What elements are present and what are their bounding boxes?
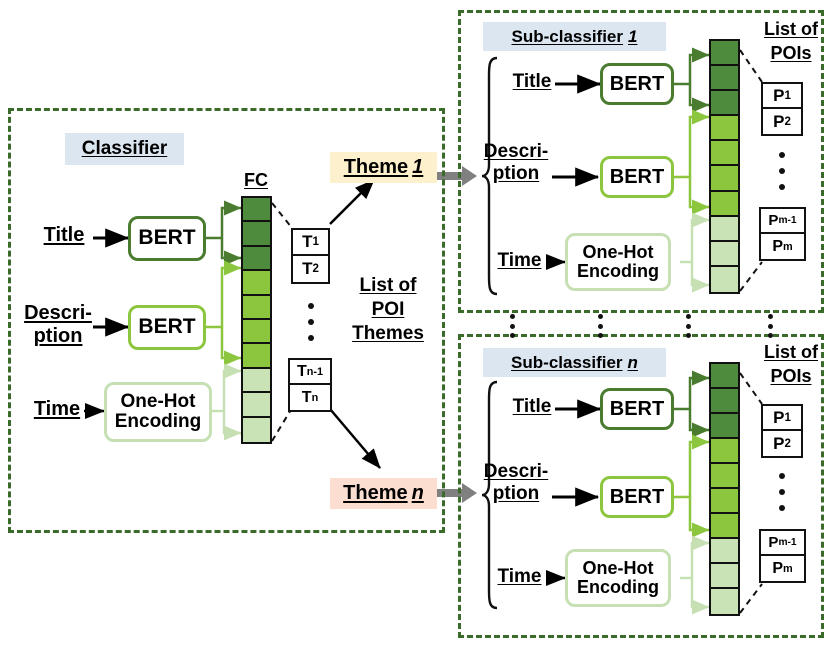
subn-fc-cell bbox=[711, 439, 738, 464]
sub1-onehot-line2: Encoding bbox=[577, 262, 659, 281]
classifier-fc-cell bbox=[243, 247, 270, 271]
poi-base: P bbox=[772, 560, 783, 578]
sub1-bert-title-label: BERT bbox=[610, 74, 664, 95]
subn-description-line1: Descri- bbox=[476, 462, 556, 482]
token-row: T1 bbox=[293, 230, 328, 256]
sub1-poi-ellipsis bbox=[779, 152, 785, 190]
classifier-theme-token-stack-bottom: Tn-1 Tn bbox=[288, 358, 332, 412]
poi-base: P bbox=[773, 408, 784, 428]
classifier-header: Classifier bbox=[65, 133, 184, 165]
subn-fc-cell bbox=[711, 464, 738, 489]
subclassifier-n-header-label: Sub-classifier bbox=[511, 353, 623, 373]
sub1-bert-title-box: BERT bbox=[600, 63, 674, 105]
poi-row: Pm-1 bbox=[761, 209, 804, 234]
subn-fc-cell bbox=[711, 389, 738, 414]
poi-sub: 2 bbox=[784, 116, 790, 128]
sub1-input-label-time: Time bbox=[492, 251, 547, 271]
sub1-description-line2: ption bbox=[476, 164, 556, 184]
interpanel-ellipsis-1 bbox=[510, 314, 515, 338]
subn-fc-cell bbox=[711, 489, 738, 514]
classifier-fc-cell bbox=[243, 296, 270, 320]
theme-chip-1[interactable]: Theme1 bbox=[330, 152, 437, 183]
sub1-input-label-title: Title bbox=[503, 72, 561, 92]
poi-row: P1 bbox=[763, 406, 801, 431]
sub1-fc-cell bbox=[711, 66, 738, 91]
sub1-onehot-line1: One-Hot bbox=[583, 243, 654, 262]
sub1-fc-cell bbox=[711, 116, 738, 141]
subn-input-label-time: Time bbox=[492, 567, 547, 587]
classifier-bert-title-label: BERT bbox=[138, 227, 195, 249]
classifier-title-text: Title bbox=[44, 224, 85, 246]
subn-onehot-line1: One-Hot bbox=[583, 559, 654, 578]
classifier-fc-label: FC bbox=[239, 171, 273, 190]
subn-poi-line1: List of bbox=[753, 343, 829, 362]
classifier-fc-vector bbox=[241, 196, 272, 444]
classifier-fc-cell bbox=[243, 271, 270, 295]
theme-chip-1-index: 1 bbox=[408, 156, 423, 179]
subn-input-label-title: Title bbox=[503, 397, 561, 417]
classifier-description-line2: ption bbox=[18, 326, 98, 347]
classifier-input-label-time: Time bbox=[28, 399, 86, 420]
subn-fc-cell bbox=[711, 589, 738, 614]
interpanel-ellipsis-3 bbox=[686, 314, 691, 338]
poi-row: Pm bbox=[761, 234, 804, 259]
poi-sub: 1 bbox=[784, 90, 790, 102]
classifier-onehot-line1: One-Hot bbox=[121, 392, 196, 412]
classifier-fc-cell bbox=[243, 222, 270, 246]
subn-poi-ellipsis bbox=[779, 473, 785, 511]
classifier-fc-label-text: FC bbox=[244, 170, 268, 190]
classifier-poi-themes-caption: List of POI Themes bbox=[342, 276, 434, 344]
subn-onehot-line2: Encoding bbox=[577, 578, 659, 597]
token-base: T bbox=[302, 232, 312, 252]
classifier-fc-cell bbox=[243, 344, 270, 368]
sub1-fc-cell bbox=[711, 242, 738, 267]
subn-bert-title-box: BERT bbox=[600, 388, 674, 430]
poi-base: P bbox=[772, 238, 783, 256]
classifier-bert-title-box: BERT bbox=[128, 216, 206, 261]
subclassifier-1-header: Sub-classifier 1 bbox=[483, 22, 666, 51]
token-base: T bbox=[302, 389, 312, 407]
classifier-time-text: Time bbox=[34, 398, 80, 420]
subn-bert-description-label: BERT bbox=[610, 487, 664, 508]
subn-onehot-box: One-Hot Encoding bbox=[565, 549, 671, 607]
sub1-fc-cell bbox=[711, 217, 738, 242]
classifier-theme-token-stack-top: T1 T2 bbox=[291, 228, 330, 284]
subn-bert-title-label: BERT bbox=[610, 399, 664, 420]
classifier-fc-cell bbox=[243, 320, 270, 344]
sub1-bert-description-label: BERT bbox=[610, 167, 664, 188]
sub1-description-line1: Descri- bbox=[476, 142, 556, 162]
poi-sub: m-1 bbox=[778, 537, 796, 548]
subn-fc-cell bbox=[711, 364, 738, 389]
subn-fc-cell bbox=[711, 414, 738, 439]
token-base: T bbox=[302, 259, 312, 279]
classifier-input-label-title: Title bbox=[34, 225, 94, 246]
sub1-poi-stack-top: P1 P2 bbox=[761, 82, 803, 136]
sub1-fc-cell bbox=[711, 41, 738, 66]
poi-base: P bbox=[773, 434, 784, 454]
poi-sub: 2 bbox=[784, 438, 790, 450]
subn-poi-line2: POIs bbox=[753, 367, 829, 386]
poi-sub: m-1 bbox=[778, 215, 796, 226]
classifier-bert-description-box: BERT bbox=[128, 305, 206, 350]
token-sub: 1 bbox=[312, 236, 318, 248]
sub1-input-label-description: Descri- ption bbox=[476, 142, 556, 184]
subclassifier-n-header: Sub-classifier n bbox=[483, 348, 666, 377]
subn-poi-caption: List of POIs bbox=[753, 343, 829, 386]
diagram-canvas: Classifier Sub-classifier 1 Sub-classifi… bbox=[0, 0, 832, 648]
poi-themes-line1: List of bbox=[342, 276, 434, 296]
sub1-poi-line1: List of bbox=[753, 20, 829, 39]
subn-fc-vector bbox=[709, 362, 740, 616]
classifier-fc-cell bbox=[243, 369, 270, 393]
poi-row: P1 bbox=[763, 84, 801, 109]
theme-chip-1-label: Theme bbox=[344, 156, 408, 179]
sub1-fc-cell bbox=[711, 267, 738, 292]
subn-fc-cell bbox=[711, 514, 738, 539]
subn-bert-description-box: BERT bbox=[600, 476, 674, 518]
poi-base: P bbox=[768, 212, 778, 229]
poi-themes-line2: POI bbox=[342, 300, 434, 320]
subn-fc-cell bbox=[711, 539, 738, 564]
sub1-poi-stack-bottom: Pm-1 Pm bbox=[759, 207, 806, 261]
classifier-onehot-box: One-Hot Encoding bbox=[104, 382, 212, 442]
poi-base: P bbox=[768, 534, 778, 551]
theme-chip-n-index: n bbox=[408, 482, 424, 505]
poi-row: Pm-1 bbox=[761, 531, 804, 556]
poi-sub: m bbox=[783, 241, 793, 253]
poi-sub: m bbox=[783, 563, 793, 575]
poi-themes-line3: Themes bbox=[342, 324, 434, 344]
poi-base: P bbox=[773, 112, 784, 132]
sub1-poi-caption: List of POIs bbox=[753, 20, 829, 63]
classifier-bert-description-label: BERT bbox=[138, 316, 195, 338]
poi-row: Pm bbox=[761, 556, 804, 581]
poi-sub: 1 bbox=[784, 412, 790, 424]
token-sub: n bbox=[312, 392, 319, 404]
subn-time-text: Time bbox=[497, 566, 541, 587]
subclassifier-1-header-index: 1 bbox=[623, 27, 637, 47]
poi-row: P2 bbox=[763, 109, 801, 134]
sub1-fc-cell bbox=[711, 141, 738, 166]
subn-poi-stack-top: P1 P2 bbox=[761, 404, 803, 458]
token-row: T2 bbox=[293, 256, 328, 282]
theme-chip-n[interactable]: Themen bbox=[330, 478, 437, 509]
sub1-time-text: Time bbox=[497, 250, 541, 271]
classifier-fc-cell bbox=[243, 198, 270, 222]
interpanel-ellipsis-2 bbox=[598, 314, 603, 338]
poi-row: P2 bbox=[763, 431, 801, 456]
interpanel-ellipsis-4 bbox=[768, 314, 773, 338]
token-base: T bbox=[297, 363, 307, 381]
sub1-fc-cell bbox=[711, 166, 738, 191]
subclassifier-n-header-index: n bbox=[623, 353, 638, 373]
subn-fc-cell bbox=[711, 564, 738, 589]
sub1-title-text: Title bbox=[513, 71, 552, 92]
sub1-bert-description-box: BERT bbox=[600, 156, 674, 198]
subn-input-label-description: Descri- ption bbox=[476, 462, 556, 504]
classifier-fc-cell bbox=[243, 393, 270, 417]
token-row: Tn-1 bbox=[290, 360, 330, 385]
sub1-onehot-box: One-Hot Encoding bbox=[565, 233, 671, 291]
theme-chip-n-label: Theme bbox=[343, 482, 407, 505]
subn-title-text: Title bbox=[513, 396, 552, 417]
sub1-poi-line2: POIs bbox=[753, 44, 829, 63]
subclassifier-1-header-label: Sub-classifier bbox=[512, 27, 624, 47]
sub1-fc-cell bbox=[711, 91, 738, 116]
classifier-fc-cell bbox=[243, 418, 270, 442]
sub1-fc-cell bbox=[711, 192, 738, 217]
classifier-header-label: Classifier bbox=[82, 138, 168, 160]
subn-poi-stack-bottom: Pm-1 Pm bbox=[759, 529, 806, 583]
classifier-token-ellipsis bbox=[308, 303, 314, 341]
token-sub: 2 bbox=[312, 263, 318, 275]
classifier-onehot-line2: Encoding bbox=[115, 412, 202, 432]
subn-description-line2: ption bbox=[476, 484, 556, 504]
poi-base: P bbox=[773, 86, 784, 106]
token-sub: n-1 bbox=[307, 366, 323, 378]
token-row: Tn bbox=[290, 385, 330, 410]
classifier-input-label-description: Descri- ption bbox=[18, 303, 98, 347]
sub1-fc-vector bbox=[709, 39, 740, 294]
classifier-description-line1: Descri- bbox=[18, 303, 98, 324]
